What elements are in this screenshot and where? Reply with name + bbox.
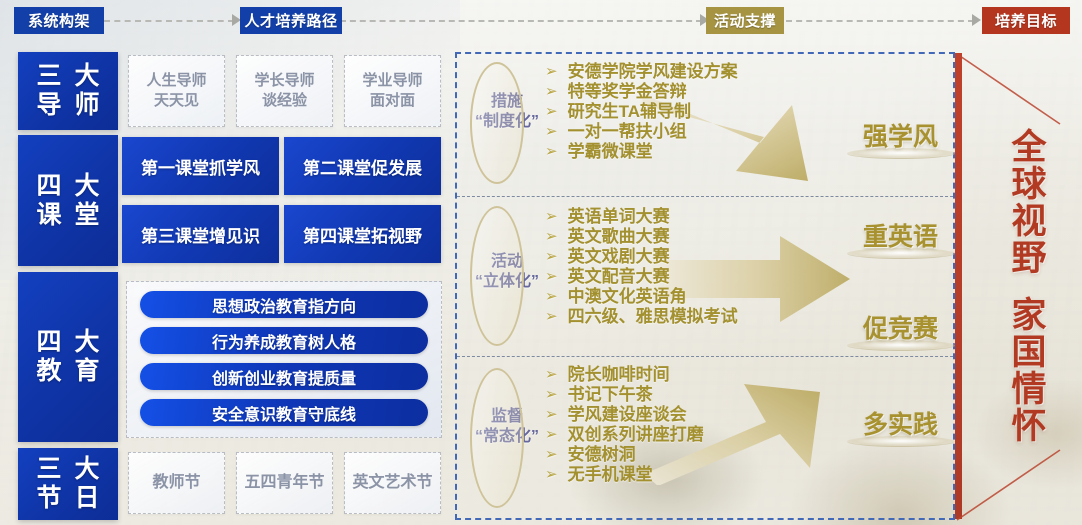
category-block-four-educations[interactable]: 四 大 教 育 (18, 272, 118, 442)
group-1-item[interactable]: ➢ 研究生TA辅导制 (545, 103, 738, 120)
mentor-line-2: 谈经验 (254, 91, 314, 111)
category-label-three-mentors: 三 大 导 师 (36, 63, 99, 119)
group-1-item[interactable]: ➢ 学霸微课堂 (545, 143, 738, 160)
flow-connector-1 (104, 20, 234, 22)
cat-char: 师 (75, 92, 100, 119)
goal-global-vision: 全球视野 (1007, 128, 1044, 276)
bullet-arrow-icon: ➢ (545, 84, 558, 99)
cat-char: 大 (75, 329, 100, 356)
bullet-arrow-icon: ➢ (545, 209, 558, 224)
group-2-item[interactable]: ➢ 英语单词大赛 (545, 208, 738, 225)
category-block-three-festivals[interactable]: 三 大 节 日 (18, 448, 118, 520)
category-block-four-classrooms[interactable]: 四 大 课 堂 (18, 135, 118, 266)
cat-char: 导 (36, 92, 61, 119)
group-3-item-text: 学风建设座谈会 (568, 406, 687, 423)
bullet-arrow-icon: ➢ (545, 249, 558, 264)
bullet-arrow-icon: ➢ (545, 64, 558, 79)
cat-char: 四 (36, 173, 61, 200)
group-2-item-text: 英语单词大赛 (568, 208, 670, 225)
category-block-three-mentors[interactable]: 三 大 导 师 (18, 52, 118, 130)
flow-connector-3 (786, 20, 974, 22)
group-2-item-text: 英文戏剧大赛 (568, 248, 670, 265)
festival-card-youth-day[interactable]: 五四青年节 (236, 452, 333, 514)
group-1-item-text: 安德学院学风建设方案 (568, 63, 738, 80)
bullet-arrow-icon: ➢ (545, 229, 558, 244)
flow-arrow-3-icon (972, 14, 981, 26)
group-1-items: ➢ 安德学院学风建设方案 ➢ 特等奖学金答辩 ➢ 研究生TA辅导制 ➢ 一对一帮… (545, 63, 738, 163)
group-2-item-text: 四六级、雅思模拟考试 (568, 308, 738, 325)
group-3-item-text: 院长咖啡时间 (568, 366, 670, 383)
group-3-item[interactable]: ➢ 无手机课堂 (545, 466, 704, 483)
group-1-item-text: 学霸微课堂 (568, 143, 653, 160)
outcome-emphasize-english: 重英语 (843, 217, 958, 253)
classroom-card-4[interactable]: 第四课堂拓视野 (284, 205, 441, 263)
flow-step-talent-path[interactable]: 人才培养路径 (240, 7, 342, 34)
cat-char: 大 (75, 173, 100, 200)
cat-char: 三 (36, 456, 61, 483)
group-3-item[interactable]: ➢ 安德树洞 (545, 446, 704, 463)
cat-char: 三 (36, 63, 61, 90)
group-3-item[interactable]: ➢ 院长咖啡时间 (545, 366, 704, 383)
bullet-arrow-icon: ➢ (545, 407, 558, 422)
mentor-line-2: 面对面 (362, 91, 422, 111)
mentor-card-academic[interactable]: 学业导师 面对面 (344, 55, 441, 127)
outcome-strong-study-style: 强学风 (843, 117, 958, 153)
cat-char: 日 (75, 485, 100, 512)
cat-char: 四 (36, 329, 61, 356)
flow-bar: 系统构架 人才培养路径 活动支撑 培养目标 (0, 0, 1082, 42)
group-3-item-text: 书记下午茶 (568, 386, 653, 403)
cat-char: 堂 (75, 202, 100, 229)
group-1-item-text: 特等奖学金答辩 (568, 83, 687, 100)
panel-separator-1 (457, 196, 953, 197)
bullet-arrow-icon: ➢ (545, 289, 558, 304)
festival-card-teachers-day[interactable]: 教师节 (128, 452, 225, 514)
classroom-card-1[interactable]: 第一课堂抓学风 (122, 137, 279, 195)
category-label-four-educations: 四 大 教 育 (36, 329, 99, 385)
group-3-item-text: 无手机课堂 (568, 466, 653, 483)
panel-separator-2 (457, 356, 953, 357)
mentor-card-text: 人生导师 天天见 (146, 71, 206, 112)
group-3-oval-icon (470, 368, 524, 508)
mentor-line-1: 学业导师 (362, 71, 422, 91)
group-3-item[interactable]: ➢ 学风建设座谈会 (545, 406, 704, 423)
cat-char: 教 (36, 358, 61, 385)
bullet-arrow-icon: ➢ (545, 124, 558, 139)
bullet-arrow-icon: ➢ (545, 269, 558, 284)
mentor-card-life[interactable]: 人生导师 天天见 (128, 55, 225, 127)
group-2-item[interactable]: ➢ 英文配音大赛 (545, 268, 738, 285)
goal-patriotic-feeling: 家国情怀 (1007, 296, 1044, 444)
cat-char: 节 (36, 485, 61, 512)
category-label-three-festivals: 三 大 节 日 (36, 456, 99, 512)
cat-char: 课 (36, 202, 61, 229)
group-1-item[interactable]: ➢ 特等奖学金答辩 (545, 83, 738, 100)
education-pill-4[interactable]: 安全意识教育守底线 (140, 399, 428, 426)
flow-step-system-framework[interactable]: 系统构架 (14, 7, 104, 34)
group-3-item-text: 安德树洞 (568, 446, 636, 463)
flow-connector-2 (340, 20, 702, 22)
group-2-item-text: 中澳文化英语角 (568, 288, 687, 305)
bullet-arrow-icon: ➢ (545, 144, 558, 159)
cat-char: 育 (75, 358, 100, 385)
group-3-item[interactable]: ➢ 书记下午茶 (545, 386, 704, 403)
group-3-items: ➢ 院长咖啡时间 ➢ 书记下午茶 ➢ 学风建设座谈会 ➢ 双创系列讲座打磨 ➢ … (545, 366, 704, 486)
mentor-card-senior[interactable]: 学长导师 谈经验 (236, 55, 333, 127)
group-2-item[interactable]: ➢ 英文戏剧大赛 (545, 248, 738, 265)
classroom-card-3[interactable]: 第三课堂增见识 (122, 205, 279, 263)
group-1-item-text: 一对一帮扶小组 (568, 123, 687, 140)
cat-char: 大 (75, 63, 100, 90)
outcome-promote-competition: 促竞赛 (843, 309, 958, 345)
infographic-root: 系统构架 人才培养路径 活动支撑 培养目标 三 大 导 师 四 大 课 堂 四 … (0, 0, 1082, 525)
bullet-arrow-icon: ➢ (545, 447, 558, 462)
group-2-item[interactable]: ➢ 四六级、雅思模拟考试 (545, 308, 738, 325)
bullet-arrow-icon: ➢ (545, 309, 558, 324)
bullet-arrow-icon: ➢ (545, 467, 558, 482)
group-1-item-text: 研究生TA辅导制 (568, 103, 691, 120)
education-pill-1[interactable]: 思想政治教育指方向 (140, 291, 428, 318)
group-3-item[interactable]: ➢ 双创系列讲座打磨 (545, 426, 704, 443)
flow-step-training-goal[interactable]: 培养目标 (982, 7, 1070, 34)
group-2-item[interactable]: ➢ 中澳文化英语角 (545, 288, 738, 305)
cat-char: 大 (75, 456, 100, 483)
group-2-item[interactable]: ➢ 英文歌曲大赛 (545, 228, 738, 245)
group-2-item-text: 英文歌曲大赛 (568, 228, 670, 245)
group-1-oval-icon (470, 62, 524, 184)
education-pill-2[interactable]: 行为养成教育树人格 (140, 327, 428, 354)
bullet-arrow-icon: ➢ (545, 104, 558, 119)
bullet-arrow-icon: ➢ (545, 387, 558, 402)
bullet-arrow-icon: ➢ (545, 427, 558, 442)
education-pill-3[interactable]: 创新创业教育提质量 (140, 363, 428, 390)
goal-column: 全球视野 家国情怀 (995, 55, 1057, 517)
classroom-card-2[interactable]: 第二课堂促发展 (284, 137, 441, 195)
mentor-line-1: 学长导师 (254, 71, 314, 91)
mentor-line-1: 人生导师 (146, 71, 206, 91)
group-3-item-text: 双创系列讲座打磨 (568, 426, 704, 443)
bullet-arrow-icon: ➢ (545, 367, 558, 382)
group-2-item-text: 英文配音大赛 (568, 268, 670, 285)
category-label-four-classrooms: 四 大 课 堂 (36, 173, 99, 229)
group-2-oval-icon (470, 206, 524, 346)
festival-card-english-arts[interactable]: 英文艺术节 (344, 452, 441, 514)
group-1-item[interactable]: ➢ 一对一帮扶小组 (545, 123, 738, 140)
flow-step-activity-support[interactable]: 活动支撑 (706, 7, 784, 34)
mentor-line-2: 天天见 (146, 91, 206, 111)
group-1-item[interactable]: ➢ 安德学院学风建设方案 (545, 63, 738, 80)
group-2-items: ➢ 英语单词大赛 ➢ 英文歌曲大赛 ➢ 英文戏剧大赛 ➢ 英文配音大赛 ➢ 中澳… (545, 208, 738, 328)
mentor-card-text: 学业导师 面对面 (362, 71, 422, 112)
mentor-card-text: 学长导师 谈经验 (254, 71, 314, 112)
outcome-more-practice: 多实践 (843, 405, 958, 441)
